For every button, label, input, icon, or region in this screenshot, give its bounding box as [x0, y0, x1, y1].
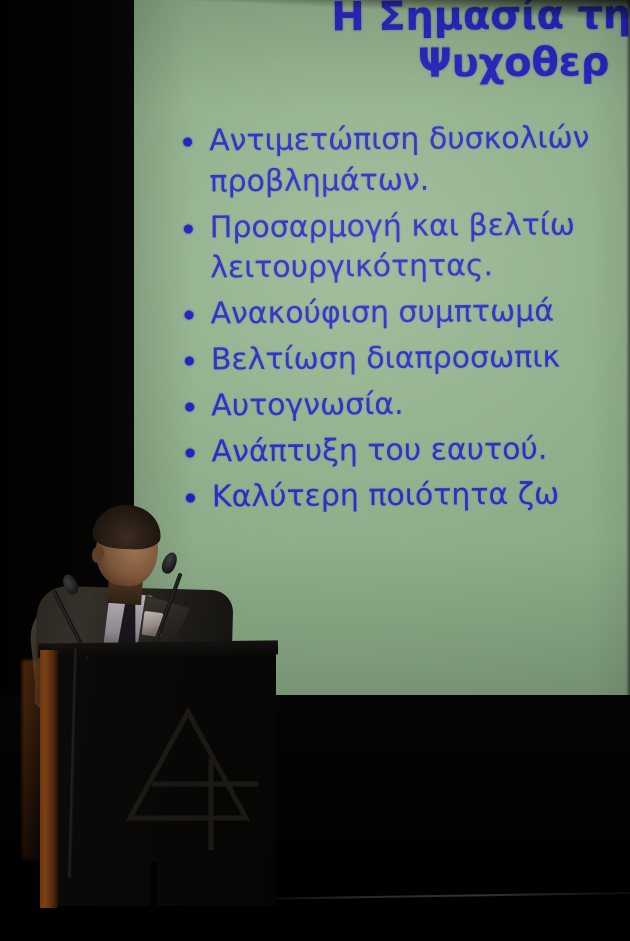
list-item: Βελτίωση διαπροσωπικ: [185, 336, 630, 382]
bullet-text: Ανάπτυξη του εαυτού.: [211, 429, 547, 472]
slide-bullet-list: Αντιμετώπιση δυσκολιών προβλημάτων. Προσ…: [183, 117, 630, 524]
bullet-dot-icon: [186, 448, 195, 457]
slide-title-line-2: Ψυχοθερ: [318, 39, 630, 89]
list-item: Ανακούφιση συμπτωμά: [184, 290, 630, 336]
bullet-dot-icon: [186, 494, 195, 503]
photo-scene: Η Σημασία τη Ψυχοθερ Αντιμετώπιση δυσκολ…: [0, 0, 630, 941]
lectern-wood-side-panel: [40, 650, 58, 908]
list-item: Αντιμετώπιση δυσκολιών προβλημάτων.: [183, 117, 630, 204]
list-item: Αυτογνωσία.: [185, 381, 630, 427]
bullet-text: Αυτογνωσία.: [211, 385, 404, 427]
bullet-dot-icon: [184, 224, 193, 233]
slide-title: Η Σημασία τη Ψυχοθερ: [168, 0, 630, 90]
lectern-emblem-icon: [118, 700, 268, 855]
bullet-dot-icon: [185, 356, 194, 365]
bullet-dot-icon: [184, 311, 193, 320]
stage-right-edge: [626, 0, 630, 720]
list-item: Ανάπτυξη του εαυτού.: [185, 427, 630, 473]
bullet-text: Βελτίωση διαπροσωπικ: [211, 338, 561, 382]
bullet-text: Καλύτερη ποιότητα ζω: [212, 475, 560, 519]
bullet-dot-icon: [185, 402, 194, 411]
bullet-text: Προσαρμογή και βελτίω λειτουργικότητας.: [210, 205, 576, 289]
list-item: Καλύτερη ποιότητα ζω: [186, 473, 630, 519]
bullet-text: Αντιμετώπιση δυσκολιών προβλημάτων.: [209, 118, 590, 203]
lectern-leg: [150, 862, 157, 928]
slide-title-line-1: Η Σημασία τη: [254, 0, 630, 42]
bullet-text: Ανακούφιση συμπτωμά: [210, 292, 554, 335]
list-item: Προσαρμογή και βελτίω λειτουργικότητας.: [184, 203, 630, 290]
bullet-dot-icon: [183, 138, 192, 147]
